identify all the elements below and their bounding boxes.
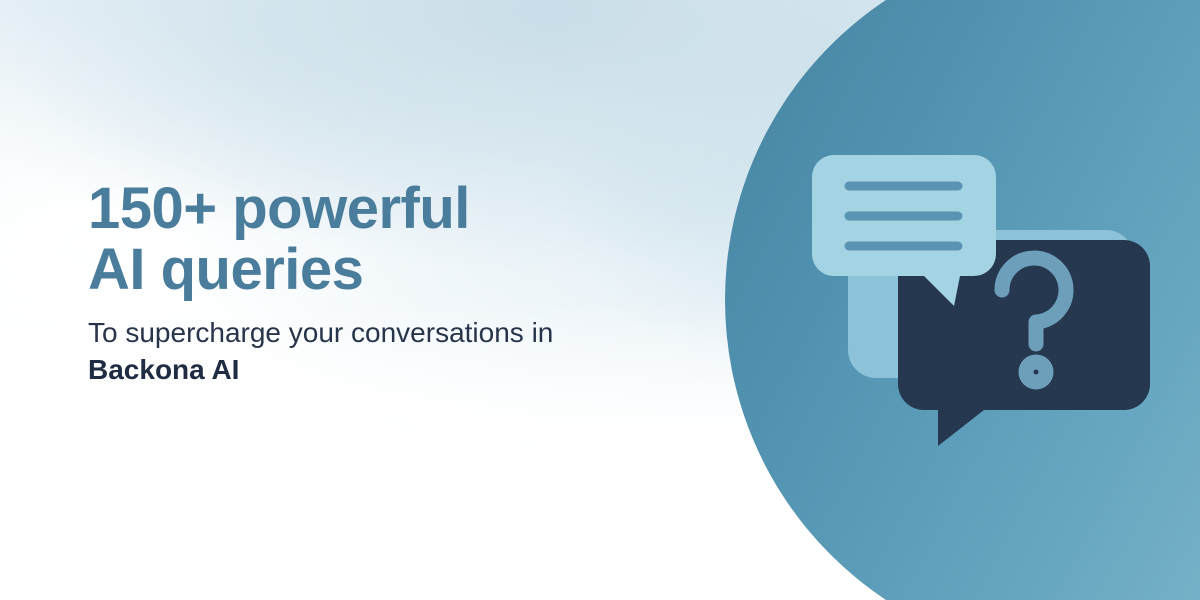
- copy-block: 150+ powerful AI queries To supercharge …: [88, 178, 648, 389]
- chat-bubbles-question-illustration: [806, 140, 1166, 460]
- subtitle-prefix: To supercharge your conversations in: [88, 317, 553, 348]
- brand-name: Backona AI: [88, 354, 239, 385]
- subtitle: To supercharge your conversations in Bac…: [88, 315, 648, 389]
- promo-banner: 150+ powerful AI queries To supercharge …: [0, 0, 1200, 600]
- page-title: 150+ powerful AI queries: [88, 178, 648, 301]
